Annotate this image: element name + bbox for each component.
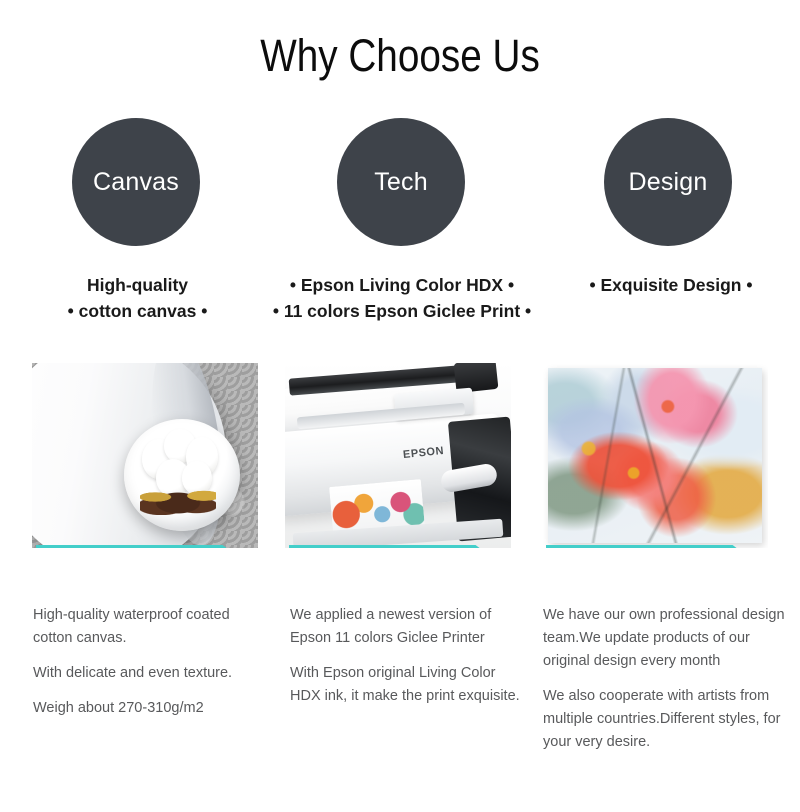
- description-fabric: High-quality waterproof coated cotton ca…: [33, 604, 273, 720]
- card-row: Fabric EPSON Technology: [0, 363, 800, 593]
- description-design: We have our own professional design team…: [543, 604, 788, 754]
- description-design-p1: We have our own professional design team…: [543, 604, 788, 673]
- badge-design: Design: [604, 118, 732, 246]
- card-fabric: Fabric: [32, 363, 258, 548]
- photo-design: Design: [542, 363, 768, 548]
- description-fabric-p1: High-quality waterproof coated cotton ca…: [33, 604, 273, 650]
- banner-fabric: Fabric: [36, 545, 248, 548]
- sub-caption-canvas-line2: • cotton canvas •: [10, 298, 265, 324]
- sub-caption-design-line1: • Exquisite Design •: [545, 272, 797, 298]
- banner-technology: Technology: [289, 545, 501, 548]
- description-technology-p1: We applied a newest version of Epson 11 …: [290, 604, 530, 650]
- description-design-p2: We also cooperate with artists from mult…: [543, 685, 788, 754]
- badge-canvas-label: Canvas: [93, 170, 179, 195]
- description-technology-p2: With Epson original Living Color HDX ink…: [290, 662, 530, 708]
- badge-tech: Tech: [337, 118, 465, 246]
- card-design: Design: [542, 363, 768, 548]
- card-technology: EPSON Technology: [285, 363, 511, 548]
- badge-row: Canvas Tech Design: [0, 118, 800, 250]
- sub-caption-tech-line1: • Epson Living Color HDX •: [252, 272, 552, 298]
- sub-caption-design: • Exquisite Design •: [545, 272, 797, 298]
- description-fabric-p2: With delicate and even texture.: [33, 662, 273, 685]
- floral-painting-canvas: [548, 368, 762, 543]
- page-title: Why Choose Us: [56, 30, 744, 82]
- description-fabric-p3: Weigh about 270-310g/m2: [33, 697, 273, 720]
- banner-design: Design: [546, 545, 758, 548]
- description-technology: We applied a newest version of Epson 11 …: [290, 604, 530, 708]
- why-choose-us-banner: Why Choose Us Canvas Tech Design High-qu…: [0, 0, 800, 812]
- sub-caption-tech-line2: • 11 colors Epson Giclee Print •: [252, 298, 552, 324]
- badge-design-label: Design: [628, 170, 707, 195]
- sub-caption-tech: • Epson Living Color HDX • • 11 colors E…: [252, 272, 552, 324]
- sub-caption-canvas-line1: High-quality: [10, 272, 265, 298]
- badge-tech-label: Tech: [374, 170, 428, 195]
- photo-fabric: Fabric: [32, 363, 258, 548]
- cotton-husk: [140, 485, 216, 515]
- sub-caption-canvas: High-quality • cotton canvas •: [10, 272, 265, 324]
- photo-technology: EPSON Technology: [285, 363, 511, 548]
- badge-canvas: Canvas: [72, 118, 200, 246]
